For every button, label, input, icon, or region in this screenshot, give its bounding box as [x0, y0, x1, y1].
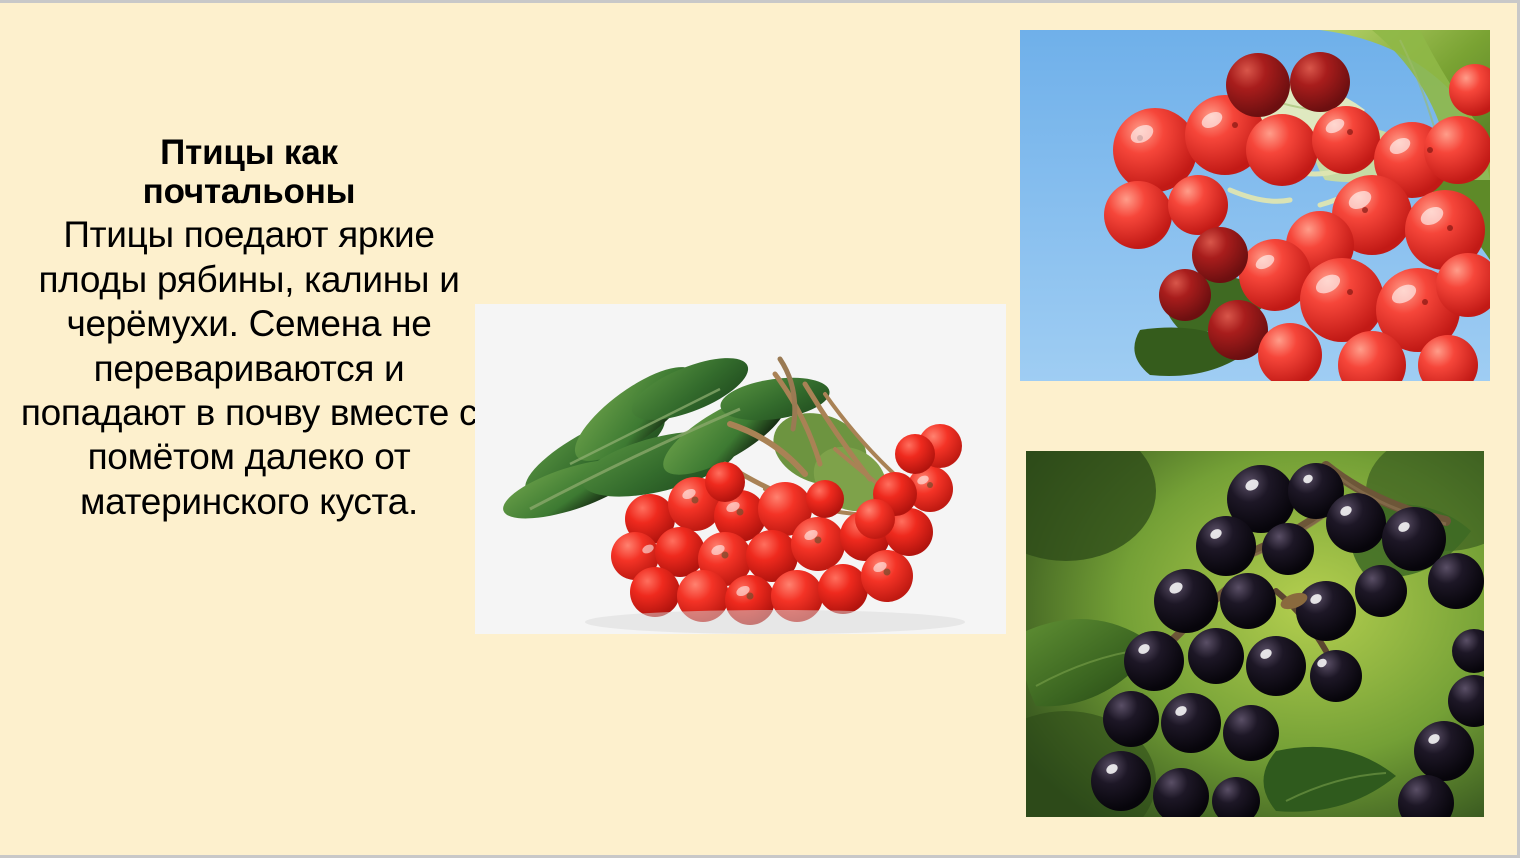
rowan-berries-photo	[475, 304, 1006, 634]
body-paragraph: Птицы поедают яркие плоды рябины, калины…	[8, 213, 490, 524]
bird-cherry-illustration	[1026, 451, 1484, 817]
viburnum-berries-photo	[1020, 30, 1490, 381]
viburnum-illustration	[1020, 30, 1490, 381]
text-content-block: Птицы как почтальоны Птицы поедают яркие…	[8, 133, 490, 524]
bird-cherry-berries-photo	[1026, 451, 1484, 817]
rowan-illustration	[475, 304, 1006, 634]
presentation-slide: Птицы как почтальоны Птицы поедают яркие…	[0, 0, 1520, 858]
page-title: Птицы как почтальоны	[8, 133, 490, 211]
